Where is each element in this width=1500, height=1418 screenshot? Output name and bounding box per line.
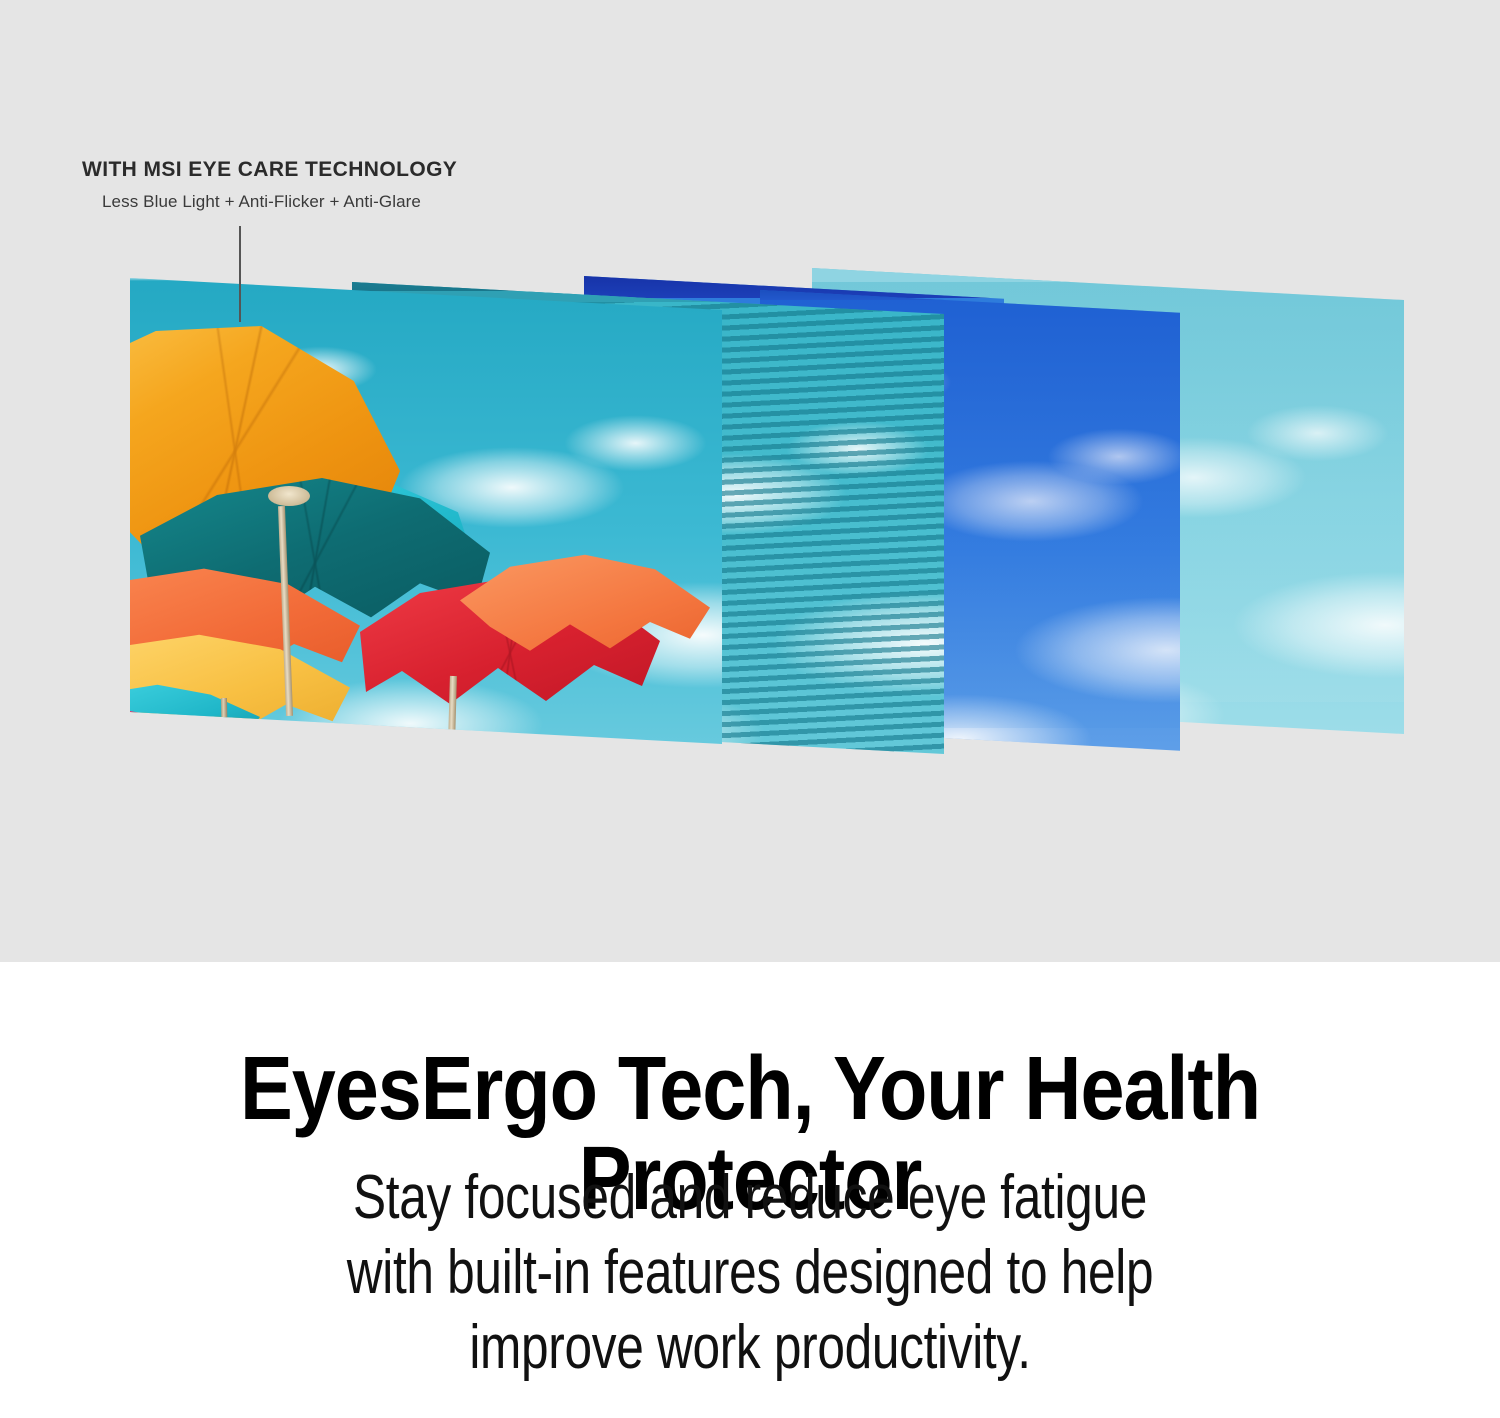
original-photo-panel [130, 278, 722, 744]
body-copy: Stay focused and reduce eye fatigue with… [150, 1160, 1350, 1385]
original-panel-top-edge [130, 278, 722, 712]
body-line-2: with built-in features designed to help [150, 1235, 1350, 1310]
annotation-title: WITH MSI EYE CARE TECHNOLOGY [82, 158, 782, 181]
annotation-leader-line [239, 226, 241, 322]
copy-section: EyesErgo Tech, Your Health Protector Sta… [0, 962, 1500, 1418]
body-line-1: Stay focused and reduce eye fatigue [150, 1160, 1350, 1235]
annotation-block: WITH MSI EYE CARE TECHNOLOGY Less Blue L… [82, 158, 782, 212]
panel-stack [0, 0, 1500, 962]
annotation-subtitle: Less Blue Light + Anti-Flicker + Anti-Gl… [102, 192, 782, 212]
body-line-3: improve work productivity. [150, 1310, 1350, 1385]
hero-section: WITH MSI EYE CARE TECHNOLOGY Less Blue L… [0, 0, 1500, 962]
